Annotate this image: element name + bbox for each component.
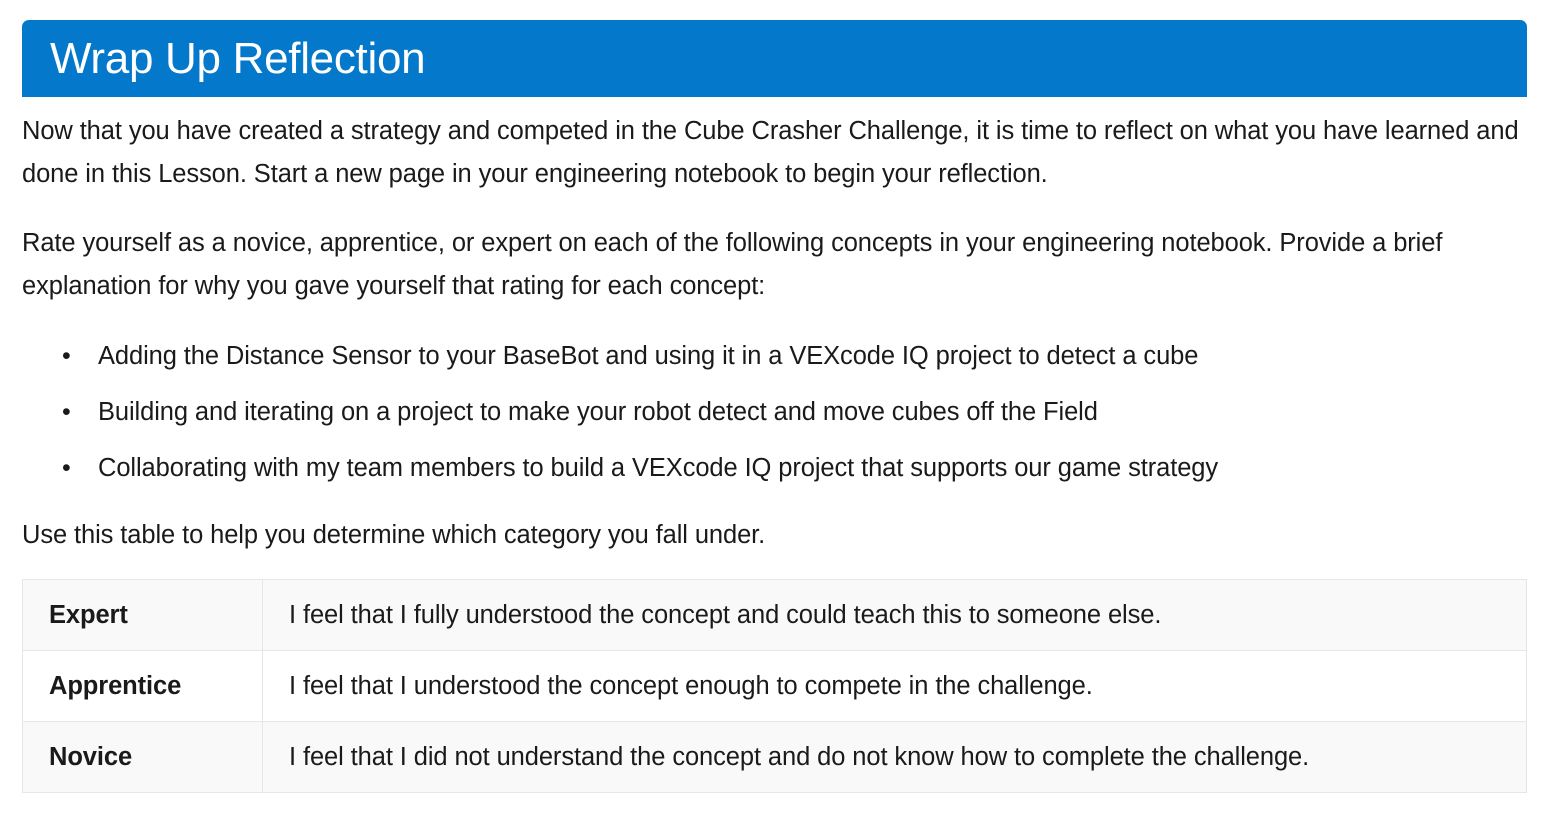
bullet-icon: •: [62, 450, 72, 486]
list-item-label: Adding the Distance Sensor to your BaseB…: [98, 342, 1198, 370]
rating-instructions-paragraph: Rate yourself as a novice, apprentice, o…: [22, 222, 1527, 308]
bullet-icon: •: [62, 338, 72, 374]
wrap-up-reflection-page: Wrap Up Reflection Now that you have cre…: [0, 0, 1544, 836]
rubric-level-label: Novice: [23, 722, 263, 793]
rubric-description: I feel that I did not understand the con…: [263, 722, 1527, 793]
intro-paragraph: Now that you have created a strategy and…: [22, 110, 1527, 196]
rubric-table: Expert I feel that I fully understood th…: [22, 579, 1527, 793]
table-lead-in-text: Use this table to help you determine whi…: [22, 514, 1527, 557]
list-item: • Collaborating with my team members to …: [22, 450, 1527, 486]
rubric-description: I feel that I understood the concept eno…: [263, 651, 1527, 722]
lesson-content: Now that you have created a strategy and…: [22, 110, 1527, 793]
page-title: Wrap Up Reflection: [50, 35, 425, 81]
rubric-level-label: Expert: [23, 580, 263, 651]
table-row: Apprentice I feel that I understood the …: [23, 651, 1527, 722]
list-item-label: Building and iterating on a project to m…: [98, 398, 1098, 426]
list-item-label: Collaborating with my team members to bu…: [98, 454, 1218, 482]
concepts-list: • Adding the Distance Sensor to your Bas…: [22, 338, 1527, 486]
section-header-banner: Wrap Up Reflection: [22, 20, 1527, 97]
list-item: • Building and iterating on a project to…: [22, 394, 1527, 430]
rubric-level-label: Apprentice: [23, 651, 263, 722]
table-row: Expert I feel that I fully understood th…: [23, 580, 1527, 651]
list-item: • Adding the Distance Sensor to your Bas…: [22, 338, 1527, 374]
table-row: Novice I feel that I did not understand …: [23, 722, 1527, 793]
rubric-description: I feel that I fully understood the conce…: [263, 580, 1527, 651]
bullet-icon: •: [62, 394, 72, 430]
